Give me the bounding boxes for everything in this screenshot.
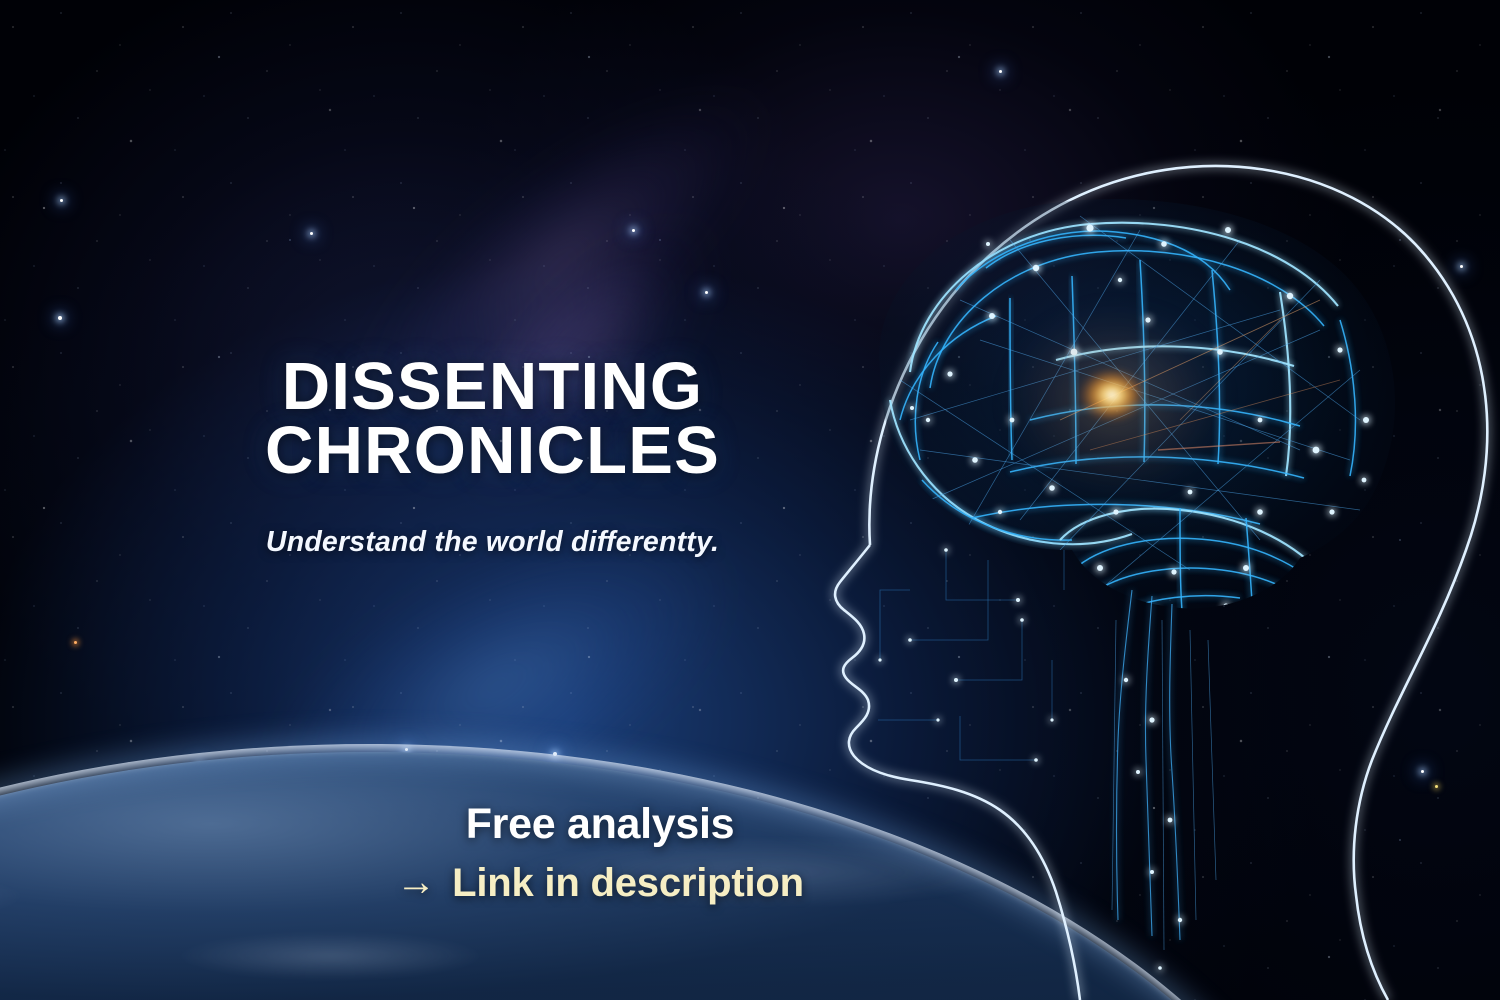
brand-tagline: Understand the world differentty. (0, 526, 985, 559)
call-to-action: Free analysis → Link in description (0, 800, 1200, 906)
promo-banner: DISSENTING CHRONICLES Understand the wor… (0, 0, 1500, 1000)
brainstem-streams (1112, 590, 1216, 970)
cta-headline: Free analysis (0, 800, 1200, 849)
bright-star (310, 232, 313, 235)
bright-star (60, 199, 63, 202)
arrow-right-icon: → (396, 862, 436, 902)
bright-star (999, 70, 1002, 73)
circuit-traces (878, 548, 1064, 762)
title-line-1: DISSENTING (0, 355, 985, 419)
brand-title: DISSENTING CHRONICLES (0, 355, 985, 484)
title-line-2: CHRONICLES (0, 419, 985, 483)
cta-link-row[interactable]: → Link in description (0, 861, 1200, 906)
bright-star (58, 316, 62, 320)
face-profile-outline (835, 545, 1080, 1000)
cta-link-label[interactable]: Link in description (452, 861, 804, 906)
bright-star (632, 229, 635, 232)
orange-star (74, 641, 77, 644)
bright-star (705, 291, 708, 294)
